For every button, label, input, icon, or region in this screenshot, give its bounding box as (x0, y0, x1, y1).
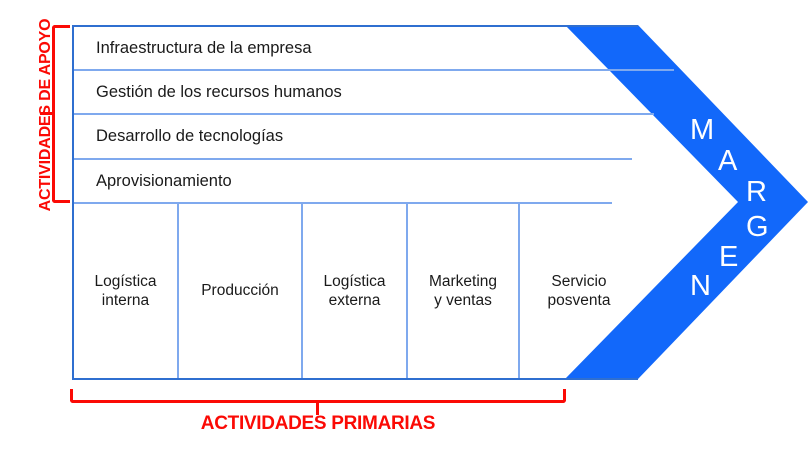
value-chain-diagram: Infraestructura de la empresa Gestión de… (0, 0, 810, 450)
primary-cell-marketing-sales[interactable]: Marketing y ventas (408, 204, 520, 378)
support-activities-label: ACTIVIDADES DE APOYO (37, 15, 55, 215)
margin-letter-e-4: E (719, 243, 738, 272)
support-row-label: Gestión de los recursos humanos (96, 83, 342, 102)
primary-activities-row: Logística interna Producción Logística e… (74, 204, 638, 378)
primary-cell-label: Logística externa (323, 272, 385, 311)
primary-cell-label: Producción (201, 281, 279, 300)
support-row-infrastructure[interactable]: Infraestructura de la empresa (74, 27, 674, 71)
primary-cell-label: Marketing y ventas (429, 272, 497, 311)
primary-cell-outbound-logistics[interactable]: Logística externa (303, 204, 408, 378)
margin-letter-g-3: G (746, 213, 769, 242)
margin-letter-a-1: A (718, 147, 737, 176)
support-row-technology-development[interactable]: Desarrollo de tecnologías (74, 115, 632, 160)
margin-letter-m-0: M (690, 116, 714, 145)
support-row-human-resources[interactable]: Gestión de los recursos humanos (74, 71, 654, 115)
primary-cell-inbound-logistics[interactable]: Logística interna (74, 204, 179, 378)
support-row-procurement[interactable]: Aprovisionamiento (74, 160, 612, 204)
primary-cell-operations[interactable]: Producción (179, 204, 303, 378)
margin-letter-n-5: N (690, 272, 711, 301)
primary-cell-after-sales-service[interactable]: Servicio posventa (520, 204, 638, 378)
support-row-label: Desarrollo de tecnologías (96, 127, 283, 146)
support-row-label: Infraestructura de la empresa (96, 39, 312, 58)
primary-cell-label: Logística interna (94, 272, 156, 311)
primary-cell-label: Servicio posventa (548, 272, 611, 311)
primary-activities-label: ACTIVIDADES PRIMARIAS (0, 413, 636, 435)
support-row-label: Aprovisionamiento (96, 172, 232, 191)
margin-letter-r-2: R (746, 178, 767, 207)
